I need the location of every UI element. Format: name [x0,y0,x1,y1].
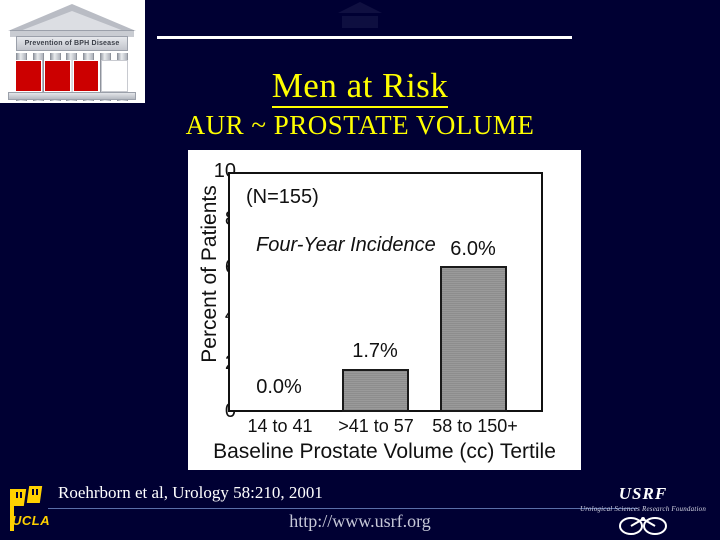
ucla-flag-slit [32,489,34,495]
ucla-flag-slit [16,492,18,498]
ucla-flag-slit [20,492,22,498]
x-tick-label: 58 to 150+ [424,416,526,437]
x-tick-label: >41 to 57 [325,416,427,437]
header-divider [157,36,572,39]
temple-roof-inner-shape [20,11,124,31]
ucla-logo: UCLA [8,485,54,535]
slide-title-text: Men at Risk [272,66,449,108]
usrf-logo: USRF Urological Sciences Research Founda… [578,484,708,540]
ucla-flag-shape [11,489,26,506]
usrf-logo-subtitle: Urological Sciences Research Foundation [578,505,708,513]
slide-subtitle: AUR ~ PROSTATE VOLUME [0,110,720,141]
ucla-flag-shape [27,486,42,503]
slide-title: Men at Risk [0,66,720,106]
watermark-body-shape [342,16,378,28]
chart-x-axis-label: Baseline Prostate Volume (cc) Tertile [188,440,581,464]
source-citation: Roehrborn et al, Urology 58:210, 2001 [58,483,323,503]
presentation-slide: Prevention of BPH Disease Men at Risk AU… [0,0,720,540]
chart-bar-label-tertile-2: 1.7% [330,340,420,363]
usrf-emblem-icon [578,516,708,540]
chart-bar-tertile-3 [440,266,507,412]
chart-image-panel: Percent of Patients 10 8 6 4 2 0 (N=155)… [188,150,581,470]
ucla-logo-label: UCLA [12,513,50,528]
usrf-logo-name: USRF [578,484,708,504]
watermark-roof-shape [338,2,382,13]
temple-banner-label: Prevention of BPH Disease [17,37,127,50]
ucla-flag-slit [36,489,38,495]
chart-annotation-incidence: Four-Year Incidence [256,234,436,257]
faint-watermark-icon [330,2,390,30]
footer-divider [48,508,638,509]
temple-banner: Prevention of BPH Disease [16,36,128,51]
x-tick-label: 14 to 41 [230,416,330,437]
chart-bar-label-tertile-1: 0.0% [234,376,324,399]
chart-bar-tertile-2 [342,369,409,412]
chart-annotation-sample-size: (N=155) [246,186,319,209]
chart-bar-label-tertile-3: 6.0% [428,238,518,261]
